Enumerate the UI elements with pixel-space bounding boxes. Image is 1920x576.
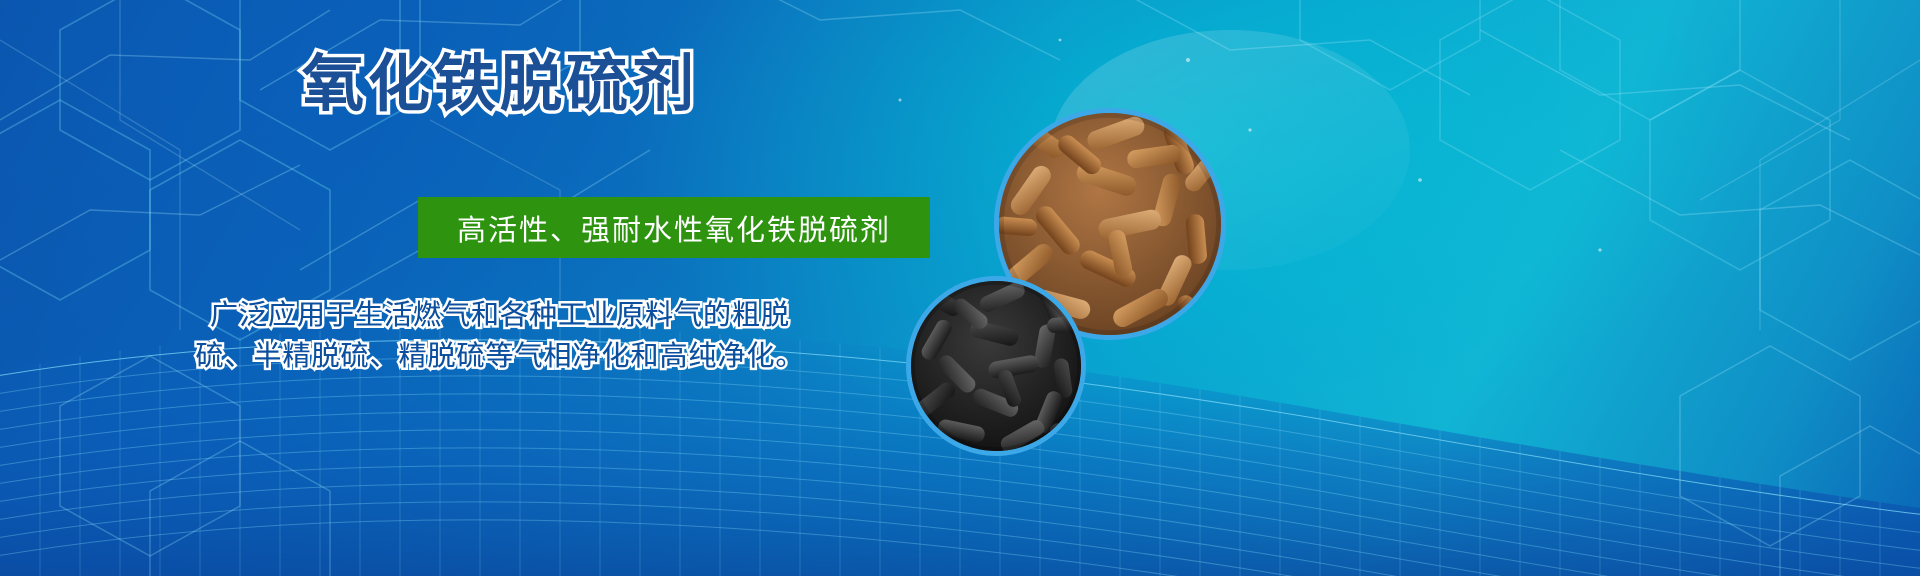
- subtitle-text: 高活性、强耐水性氧化铁脱硫剂: [457, 207, 891, 249]
- subtitle-highlight-bar: 高活性、强耐水性氧化铁脱硫剂: [418, 197, 930, 258]
- description-line-1-fill: 广泛应用于生活燃气和各种工业原料气的粗脱: [0, 294, 1000, 335]
- product-banner: 氧化铁脱硫剂 氧化铁脱硫剂 高活性、强耐水性氧化铁脱硫剂 广泛应用于生活燃气和各…: [0, 0, 1920, 576]
- page-title: 氧化铁脱硫剂: [0, 54, 1000, 116]
- description: 广泛应用于生活燃气和各种工业原料气的粗脱 硫、半精脱硫、精脱硫等气相净化和高纯净…: [0, 294, 1000, 376]
- banner-text-content: 氧化铁脱硫剂 氧化铁脱硫剂 高活性、强耐水性氧化铁脱硫剂 广泛应用于生活燃气和各…: [0, 0, 1040, 576]
- description-line-2-fill: 硫、半精脱硫、精脱硫等气相净化和高纯净化。: [0, 335, 1000, 376]
